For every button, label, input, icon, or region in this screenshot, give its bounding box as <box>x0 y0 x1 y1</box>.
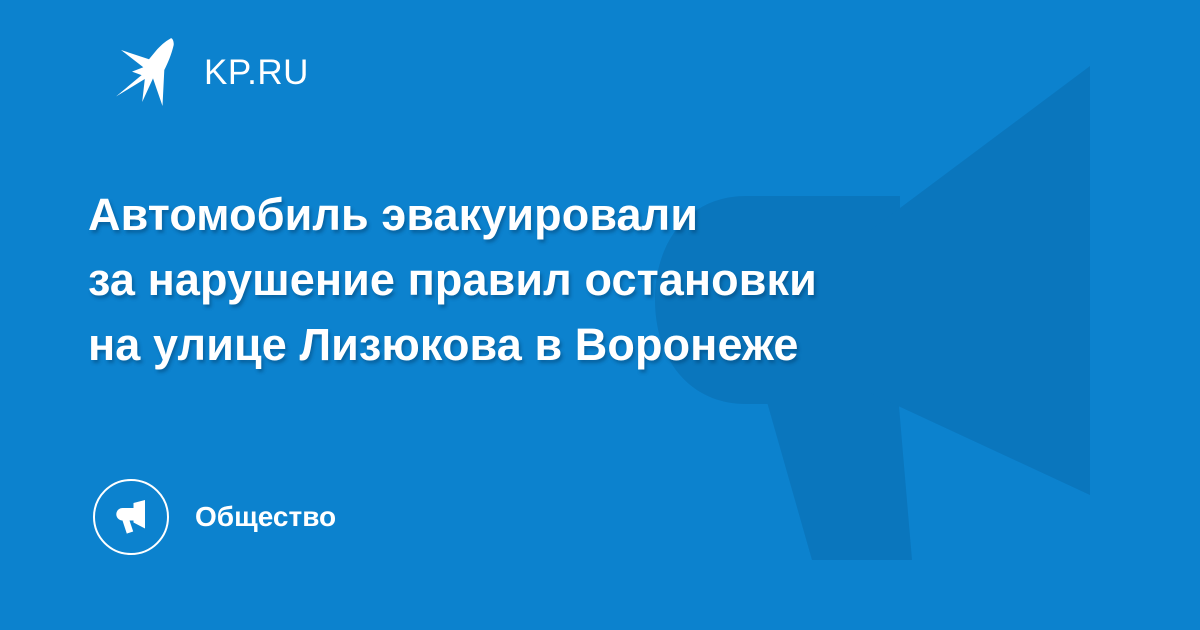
category-label: Общество <box>195 503 336 531</box>
category-badge[interactable]: Общество <box>93 479 336 555</box>
megaphone-icon <box>111 497 151 537</box>
brand-header[interactable]: KP.RU <box>108 36 309 108</box>
swallow-bird-icon <box>108 36 186 108</box>
headline-line-3: на улице Лизюкова в Воронеже <box>88 312 1048 377</box>
category-icon-circle <box>93 479 169 555</box>
page-title: Автомобиль эвакуировали за нарушение пра… <box>88 182 1048 377</box>
headline-line-1: Автомобиль эвакуировали <box>88 182 1048 247</box>
social-share-card: KP.RU Автомобиль эвакуировали за нарушен… <box>0 0 1200 630</box>
brand-wordmark: KP.RU <box>204 55 309 90</box>
headline-line-2: за нарушение правил остановки <box>88 247 1048 312</box>
